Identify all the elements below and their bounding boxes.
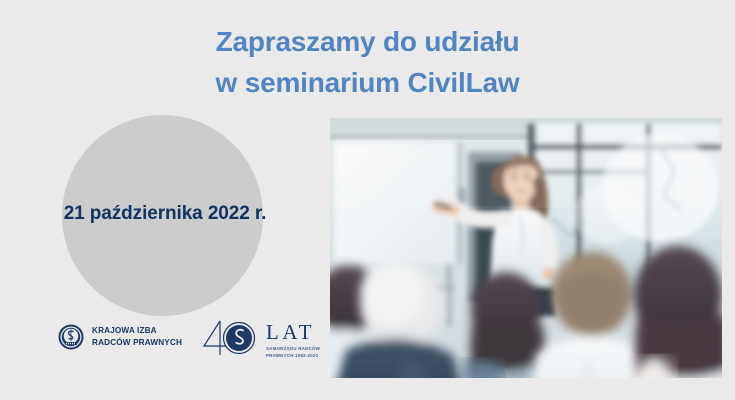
anniversary-logo: LAT SAMORZĄDU RADCÓW PRAWNYCH 1982-2022 bbox=[200, 317, 320, 359]
title-line-2: w seminarium CivilLaw bbox=[0, 63, 735, 104]
kirp-logo-text: KRAJOWA IZBA RADCÓW PRAWNYCH bbox=[92, 325, 182, 349]
kirp-seal-icon bbox=[58, 324, 84, 350]
anniversary-word: LAT bbox=[266, 322, 320, 343]
anniversary-subtitle: SAMORZĄDU RADCÓW PRAWNYCH 1982-2022 bbox=[266, 346, 320, 359]
anniversary-sub-line-2: PRAWNYCH 1982-2022 bbox=[266, 353, 320, 360]
kirp-text-line-1: KRAJOWA IZBA bbox=[92, 325, 182, 337]
forty-seal-icon bbox=[200, 317, 260, 359]
page-title: Zapraszamy do udziału w seminarium Civil… bbox=[0, 22, 735, 103]
title-line-1: Zapraszamy do udziału bbox=[0, 22, 735, 63]
anniversary-sub-line-1: SAMORZĄDU RADCÓW bbox=[266, 346, 320, 353]
kirp-logo: KRAJOWA IZBA RADCÓW PRAWNYCH bbox=[58, 324, 182, 350]
seminar-photo bbox=[330, 118, 722, 378]
kirp-text-line-2: RADCÓW PRAWNYCH bbox=[92, 337, 182, 349]
seminar-banner: Zapraszamy do udziału w seminarium Civil… bbox=[0, 0, 735, 400]
event-date-text: 21 października 2022 r. bbox=[20, 203, 310, 225]
anniversary-text: LAT SAMORZĄDU RADCÓW PRAWNYCH 1982-2022 bbox=[266, 317, 320, 359]
